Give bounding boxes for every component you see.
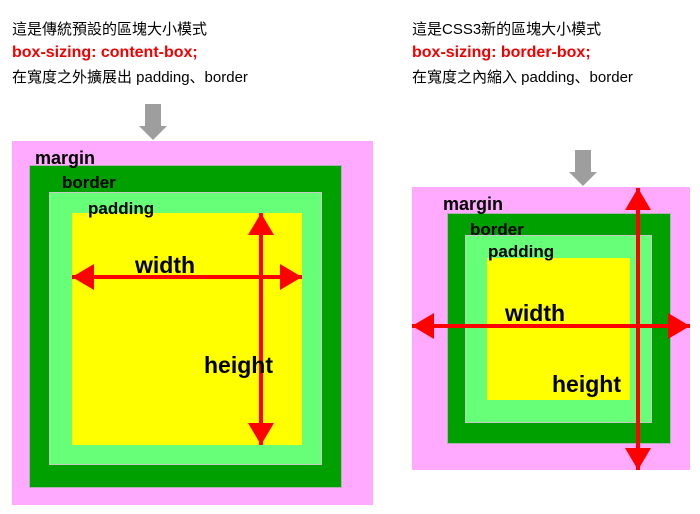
border-label: border [470, 220, 524, 240]
caption-line-3: 在寬度之外擴展出 padding、border [12, 66, 248, 89]
caption-line-3: 在寬度之內縮入 padding、border [412, 66, 633, 89]
padding-label: padding [88, 199, 154, 219]
padding-label: padding [488, 242, 554, 262]
height-label: height [552, 371, 621, 398]
down-arrow-icon [145, 104, 161, 140]
height-label: height [204, 352, 273, 379]
down-arrow-icon [575, 150, 591, 186]
width-label: width [135, 252, 195, 279]
margin-label: margin [35, 148, 95, 169]
caption-line-1: 這是傳統預設的區塊大小模式 [12, 18, 248, 41]
caption-code: box-sizing: border-box; [412, 41, 633, 66]
content-box-caption: 這是傳統預設的區塊大小模式 box-sizing: content-box; 在… [12, 18, 248, 89]
width-label: width [505, 300, 565, 327]
content-box-panel: 這是傳統預設的區塊大小模式 box-sizing: content-box; 在… [0, 0, 400, 514]
caption-code: box-sizing: content-box; [12, 41, 248, 66]
height-measure-arrow [625, 188, 651, 470]
border-box-caption: 這是CSS3新的區塊大小模式 box-sizing: border-box; 在… [412, 18, 633, 89]
border-label: border [62, 173, 116, 193]
caption-line-1: 這是CSS3新的區塊大小模式 [412, 18, 633, 41]
border-box-panel: 這是CSS3新的區塊大小模式 box-sizing: border-box; 在… [400, 0, 700, 514]
height-measure-arrow [248, 213, 274, 445]
margin-label: margin [443, 194, 503, 215]
